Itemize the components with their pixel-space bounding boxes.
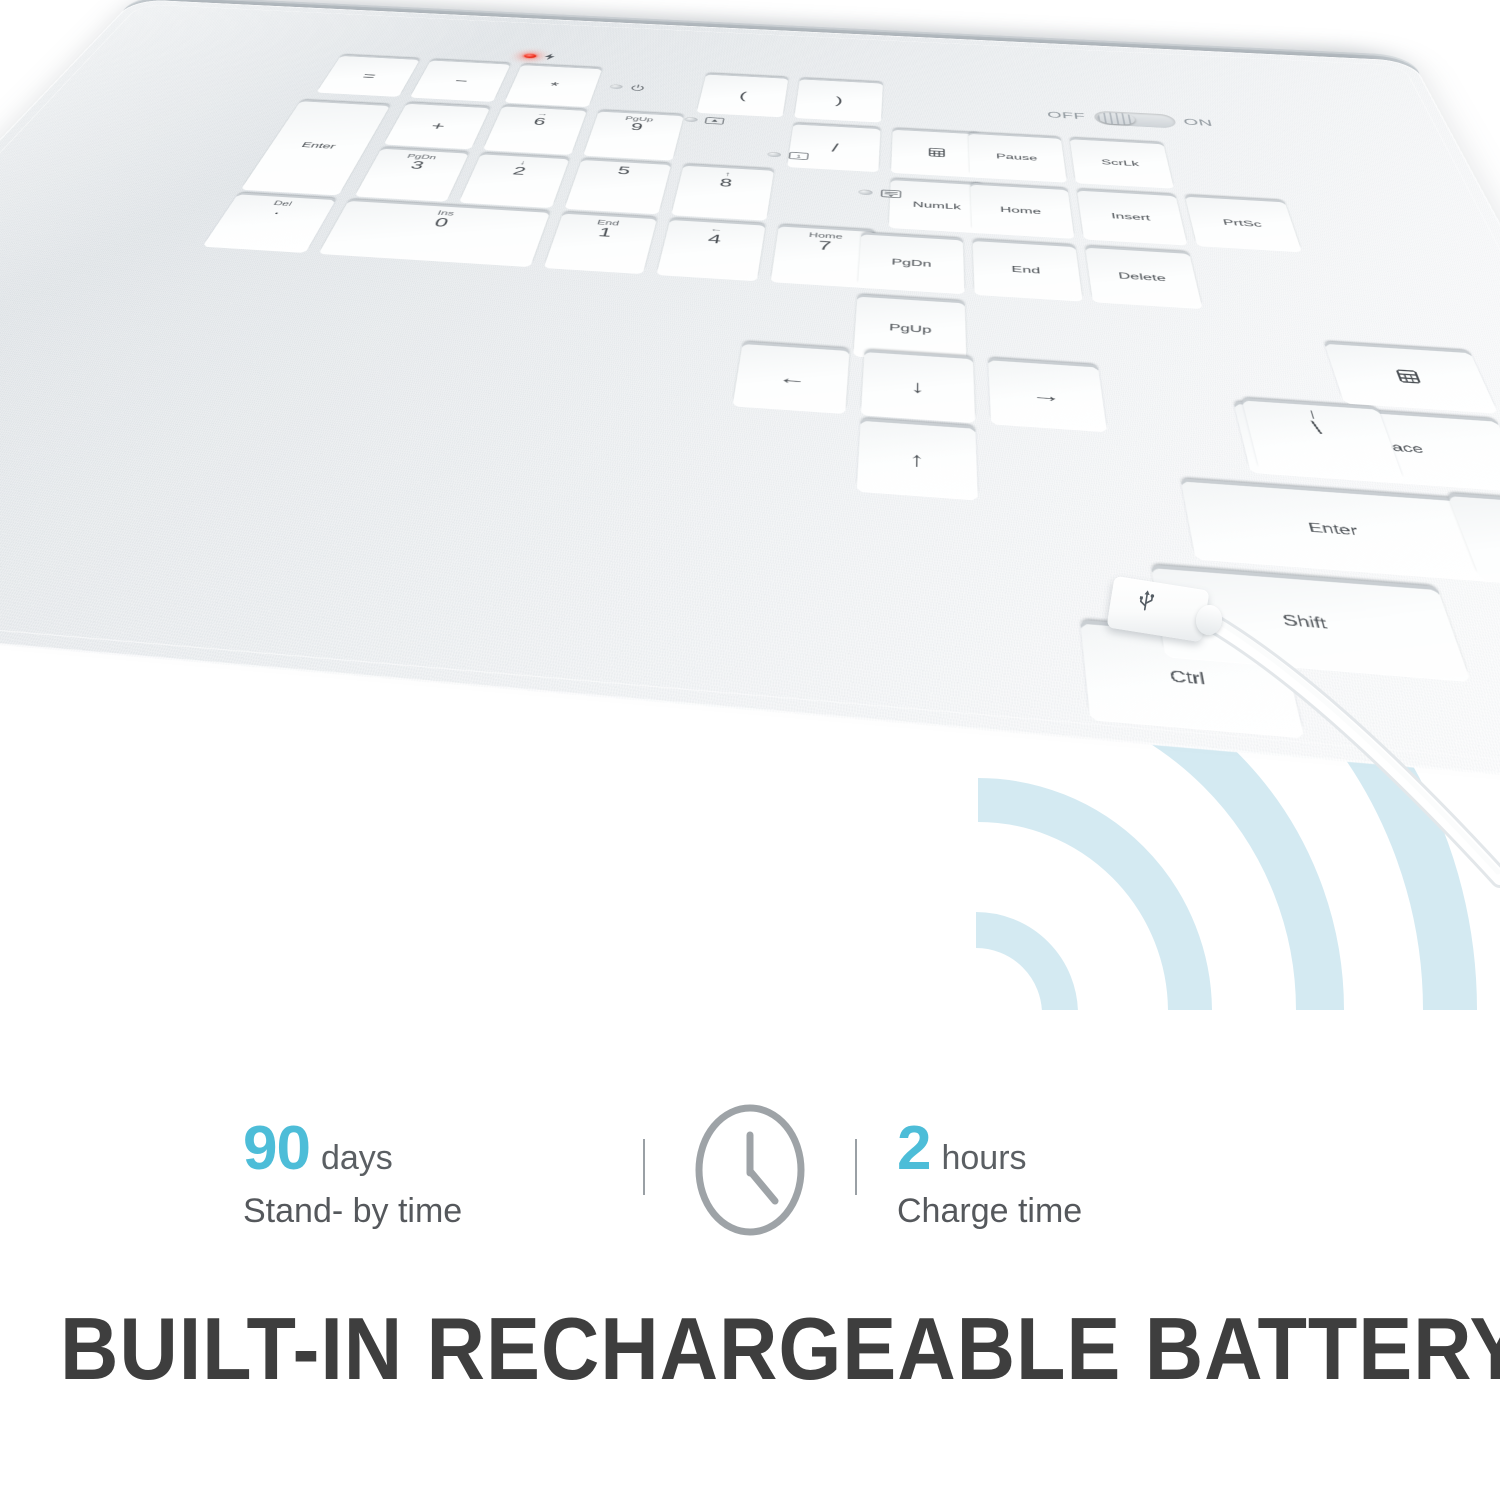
spec-standby-unit: days — [321, 1141, 393, 1175]
numpad-0-main: 0 — [432, 216, 450, 229]
numpad-5-main: 5 — [616, 165, 631, 177]
spec-standby: 90 days Stand- by time — [243, 1118, 603, 1228]
svg-text:1: 1 — [796, 154, 801, 159]
numpad-3-main: 3 — [409, 159, 427, 171]
key-home-label: Home — [1000, 206, 1042, 216]
spec-charge-number: 2 — [897, 1118, 930, 1180]
spec-charge-description: Charge time — [897, 1194, 1082, 1228]
numpad-paren-open-label: ( — [739, 90, 748, 100]
spec-standby-top: 90 days — [243, 1118, 393, 1180]
numpad-4-main: 4 — [707, 232, 723, 246]
spec-divider-right — [855, 1139, 857, 1195]
spec-divider-left — [643, 1139, 645, 1195]
spec-standby-description: Stand- by time — [243, 1194, 462, 1228]
spec-charge-unit: hours — [941, 1141, 1026, 1175]
calculator-icon — [926, 147, 948, 160]
numpad-1-main: 1 — [596, 226, 613, 239]
spec-strip: 90 days Stand- by time 2 hours Charge ti… — [0, 1085, 1500, 1260]
calculator-icon — [1392, 368, 1426, 388]
numpad-2-main: 2 — [511, 165, 528, 177]
spec-charge-top: 2 hours — [897, 1118, 1027, 1180]
numpad-equals-label: = — [360, 71, 378, 81]
page-headline: BUILT-IN RECHARGEABLE BATTERY — [60, 1305, 1440, 1393]
usb-icon — [1131, 585, 1161, 615]
clock-icon — [691, 1101, 809, 1244]
numpad-enter-label: Enter — [300, 142, 337, 151]
spec-clock — [685, 1101, 815, 1244]
numpad-decimal-main: · — [269, 206, 284, 219]
numpad-paren-close-label: ) — [835, 95, 843, 105]
key-pgdn-label: PgDn — [891, 258, 931, 269]
key-enter-label: Enter — [1307, 522, 1360, 539]
numpad-8-main: 8 — [718, 177, 733, 189]
spec-standby-number: 90 — [243, 1118, 310, 1180]
key-insert-label: Insert — [1111, 212, 1151, 222]
numpad-9-main: 9 — [630, 121, 645, 132]
spec-charge: 2 hours Charge time — [897, 1118, 1257, 1228]
product-photo-stage: Enter Del · Ins 0 End 1 ↓ 2 — [0, 0, 1500, 1010]
key-scrlk-label: ScrLk — [1101, 159, 1140, 168]
numpad-7-main: 7 — [818, 239, 832, 253]
numpad-divide-label: / — [831, 142, 839, 153]
